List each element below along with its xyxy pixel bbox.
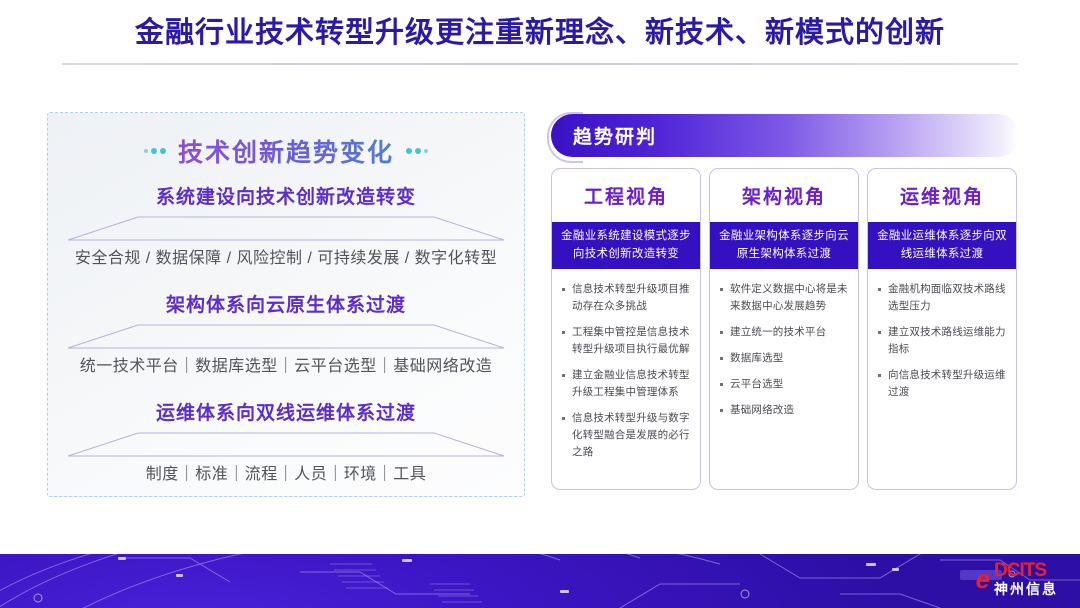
circuit-pattern-icon <box>0 554 1080 608</box>
trend-sub-labels: 安全合规 / 数据保障 / 风险控制 / 可持续发展 / 数字化转型 <box>48 247 524 271</box>
perspective-card-list: 工程视角 金融业系统建设模式逐步向技术创新改造转变 信息技术转型升级项目推动存在… <box>551 168 1019 490</box>
list-item: 向信息技术转型升级运维过渡 <box>874 367 1008 401</box>
page-title: 金融行业技术转型升级更注重新理念、新技术、新模式的创新 <box>0 14 1080 52</box>
right-panel-header-label: 趋势研判 <box>573 122 657 149</box>
trend-sub-labels: 统一技术平台｜数据库选型｜云平台选型｜基础网络改造 <box>48 355 524 379</box>
logo-en-label: DCITS <box>994 561 1058 580</box>
trend-sub-labels: 制度｜标准｜流程｜人员｜环境｜工具 <box>48 463 524 487</box>
trend-change-panel: 技术创新趋势变化 系统建设向技术创新改造转变 安全合规 / 数据保障 / 风险控… <box>47 112 525 497</box>
card-title: 运维视角 <box>868 169 1016 222</box>
logo-cn-label: 神州信息 <box>994 582 1058 596</box>
logo-swirl-icon: e <box>973 566 992 592</box>
card-title: 工程视角 <box>552 169 700 222</box>
left-panel-heading: 技术创新趋势变化 <box>178 133 394 169</box>
trend-block: 架构体系向云原生体系过渡 统一技术平台｜数据库选型｜云平台选型｜基础网络改造 <box>48 293 524 379</box>
trend-heading: 运维体系向双线运维体系过渡 <box>48 401 524 427</box>
trend-block: 系统建设向技术创新改造转变 安全合规 / 数据保障 / 风险控制 / 可持续发展… <box>48 185 524 271</box>
card-band: 金融业运维体系逐步向双线运维体系过渡 <box>868 222 1016 269</box>
list-item: 建立双技术路线运维能力指标 <box>874 324 1008 358</box>
list-item: 建立金融业信息技术转型升级工程集中管理体系 <box>558 367 692 401</box>
dots-right-icon <box>406 148 428 154</box>
page-title-wrap: 金融行业技术转型升级更注重新理念、新技术、新模式的创新 <box>0 14 1080 52</box>
perspective-card[interactable]: 工程视角 金融业系统建设模式逐步向技术创新改造转变 信息技术转型升级项目推动存在… <box>551 168 701 490</box>
perspective-card[interactable]: 架构视角 金融业架构体系逐步向云原生架构体系过渡 软件定义数据中心将是未来数据中… <box>709 168 859 490</box>
card-band: 金融业架构体系逐步向云原生架构体系过渡 <box>710 222 858 269</box>
list-item: 信息技术转型升级项目推动存在众多挑战 <box>558 281 692 315</box>
card-title: 架构视角 <box>710 169 858 222</box>
right-panel-header: 趋势研判 <box>551 114 1019 157</box>
trend-assessment-panel: 趋势研判 工程视角 金融业系统建设模式逐步向技术创新改造转变 信息技术转型升级项… <box>551 114 1019 494</box>
footer-banner: e DCITS 神州信息 <box>0 554 1080 608</box>
list-item: 数据库选型 <box>716 350 850 367</box>
trend-heading: 系统建设向技术创新改造转变 <box>48 185 524 211</box>
logo-text-group: DCITS 神州信息 <box>994 561 1058 596</box>
trend-heading: 架构体系向云原生体系过渡 <box>48 293 524 319</box>
perspective-card[interactable]: 运维视角 金融业运维体系逐步向双线运维体系过渡 金融机构面临双技术路线选型压力 … <box>867 168 1017 490</box>
title-divider <box>62 63 1018 65</box>
funnel-shape-icon <box>66 324 506 350</box>
list-item: 云平台选型 <box>716 376 850 393</box>
list-item: 建立统一的技术平台 <box>716 324 850 341</box>
slide-root: 金融行业技术转型升级更注重新理念、新技术、新模式的创新 技术创新趋势变化 系统建… <box>0 0 1080 608</box>
company-logo: e DCITS 神州信息 <box>976 561 1058 596</box>
left-panel-heading-row: 技术创新趋势变化 <box>48 133 524 169</box>
list-item: 工程集中管控是信息技术转型升级项目执行最优解 <box>558 324 692 358</box>
trend-block: 运维体系向双线运维体系过渡 制度｜标准｜流程｜人员｜环境｜工具 <box>48 401 524 487</box>
list-item: 金融机构面临双技术路线选型压力 <box>874 281 1008 315</box>
list-item: 软件定义数据中心将是未来数据中心发展趋势 <box>716 281 850 315</box>
funnel-shape-icon <box>66 216 506 242</box>
card-band: 金融业系统建设模式逐步向技术创新改造转变 <box>552 222 700 269</box>
card-bullet-list: 软件定义数据中心将是未来数据中心发展趋势 建立统一的技术平台 数据库选型 云平台… <box>710 269 858 489</box>
list-item: 基础网络改造 <box>716 402 850 419</box>
dots-left-icon <box>144 148 166 154</box>
list-item: 信息技术转型升级与数字化转型融合是发展的必行之路 <box>558 410 692 461</box>
card-bullet-list: 信息技术转型升级项目推动存在众多挑战 工程集中管控是信息技术转型升级项目执行最优… <box>552 269 700 489</box>
funnel-shape-icon <box>66 432 506 458</box>
card-bullet-list: 金融机构面临双技术路线选型压力 建立双技术路线运维能力指标 向信息技术转型升级运… <box>868 269 1016 489</box>
